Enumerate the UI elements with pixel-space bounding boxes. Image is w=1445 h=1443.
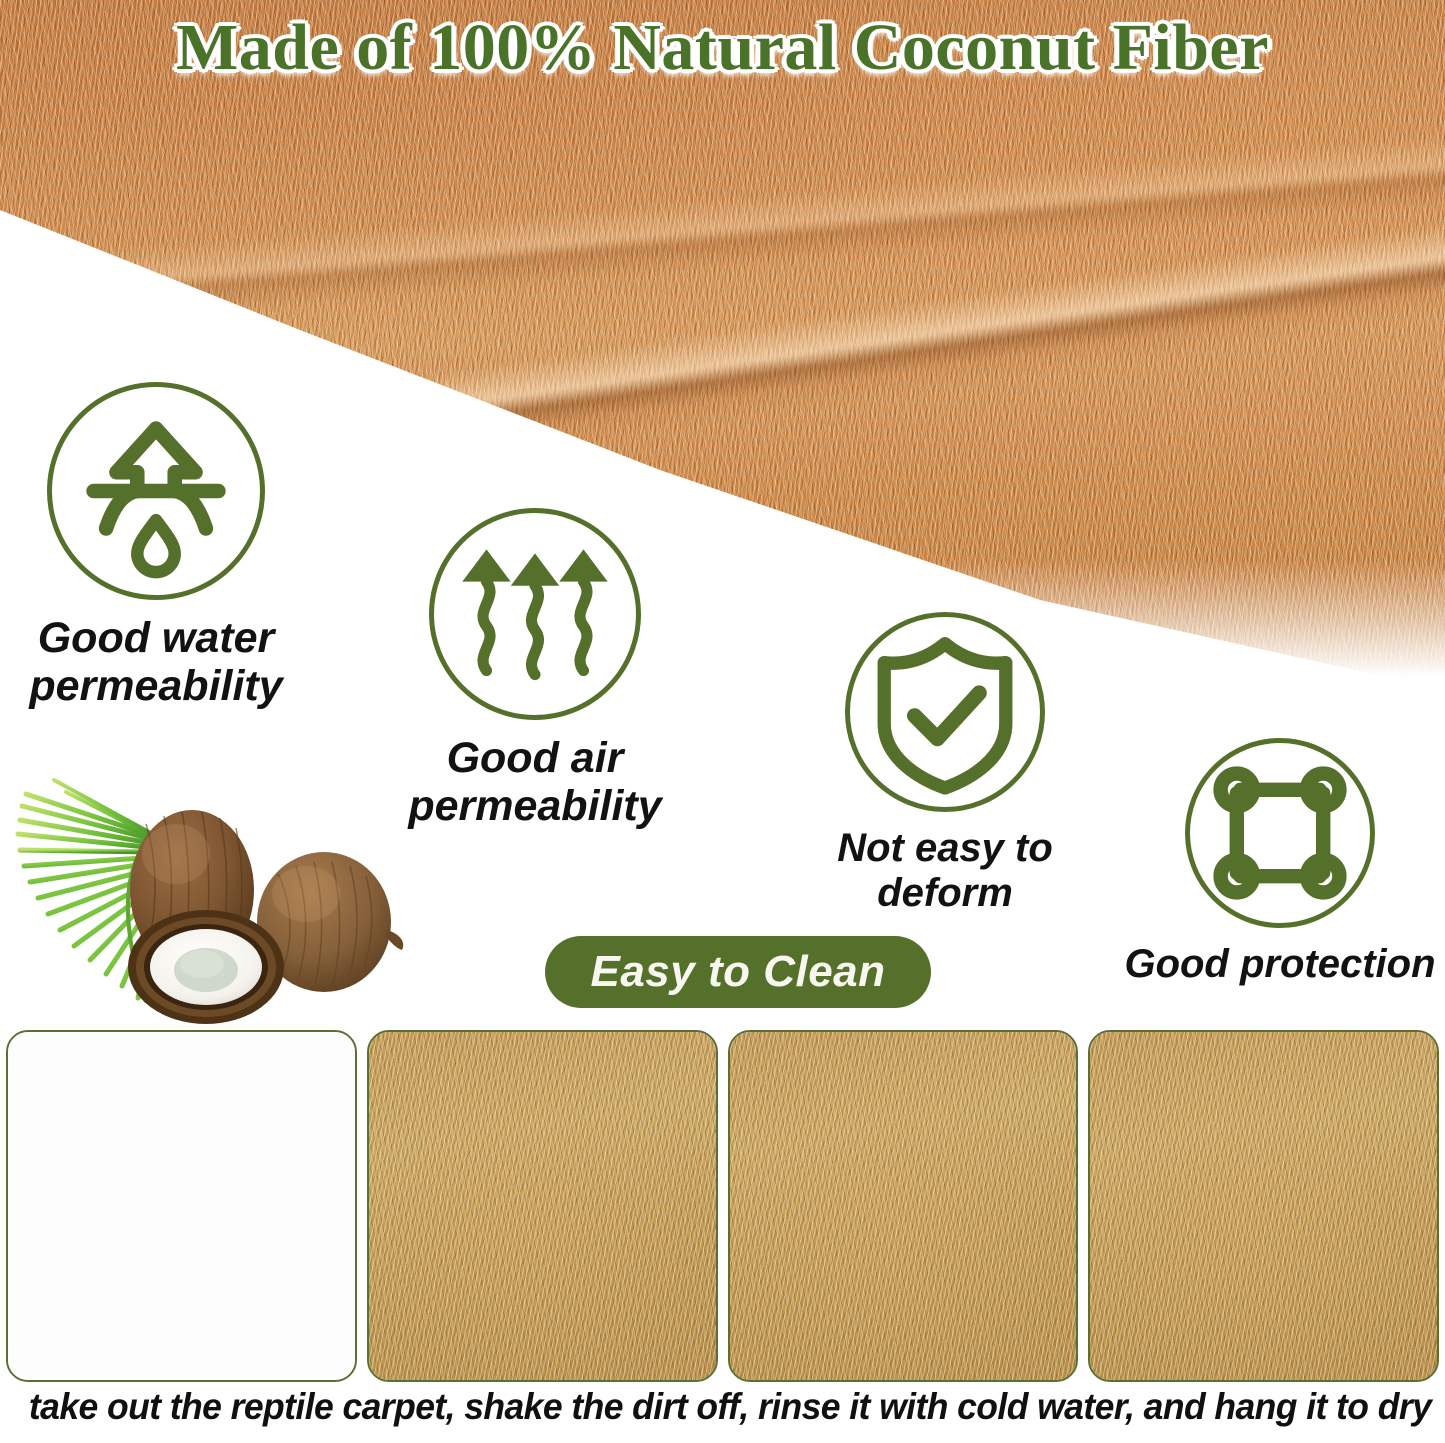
feature-not-easy-to-deform: Not easy to deform [770,612,1120,916]
feature-label: Good water permeability [0,614,324,710]
air-permeability-icon [429,508,641,720]
panel-shake-dirt [367,1030,718,1382]
infographic-root: Made of 100% Natural Coconut Fiber Good … [0,0,1445,1443]
hang-to-dry-photo [1090,1032,1437,1380]
square-nodes-icon [1185,738,1375,928]
shake-dirt-photo [369,1032,716,1380]
panel-hang-to-dry [1088,1030,1439,1382]
photo-panel-row [6,1030,1439,1382]
shield-check-icon [845,612,1045,812]
feature-label: Good protection [1110,942,1445,987]
badge-label: Easy to Clean [590,947,885,997]
rolled-mat-photo [8,1032,355,1380]
page-title: Made of 100% Natural Coconut Fiber [0,10,1445,86]
feature-air-permeability: Good air permeability [370,508,700,830]
panel-rinse-water [728,1030,1079,1382]
panel-rolled-mat [6,1030,357,1382]
feature-water-permeability: Good water permeability [0,382,324,710]
coconut-half-cut [128,910,284,1024]
rinse-water-photo [730,1032,1077,1380]
coconut-photo [6,762,416,1024]
feature-good-protection: Good protection [1110,738,1445,987]
water-permeability-icon [47,382,265,600]
feature-label: Not easy to deform [770,826,1120,916]
easy-to-clean-badge: Easy to Clean [545,936,931,1008]
feature-label: Good air permeability [370,734,700,830]
instructions-caption: take out the reptile carpet, shake the d… [29,1386,1416,1428]
